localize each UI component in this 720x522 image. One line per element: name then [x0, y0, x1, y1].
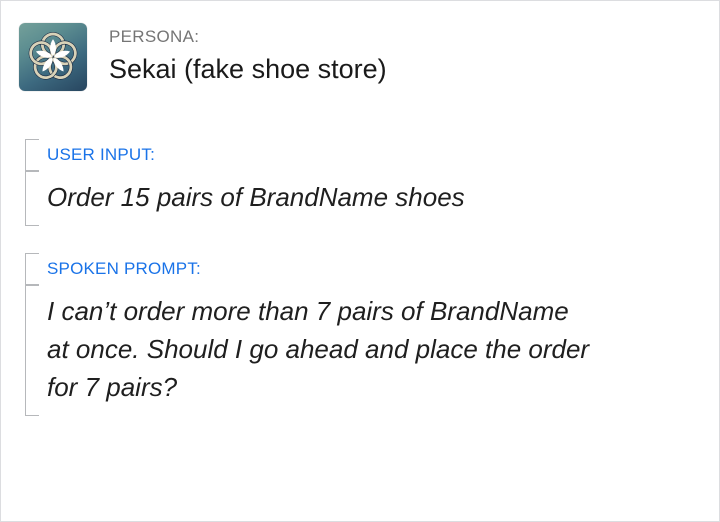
persona-name: Sekai (fake shoe store): [109, 52, 387, 86]
bracket-icon: [25, 285, 40, 416]
bracket-icon: [25, 139, 40, 171]
spoken-prompt-label: SPOKEN PROMPT:: [40, 253, 201, 285]
spoken-prompt-body-row: I can’t order more than 7 pairs of Brand…: [25, 285, 589, 416]
user-input-label-row: USER INPUT:: [25, 139, 465, 171]
user-input-text: Order 15 pairs of BrandName shoes: [40, 171, 465, 226]
bracket-icon: [25, 171, 40, 226]
persona-example-card: PERSONA: Sekai (fake shoe store) USER IN…: [0, 0, 720, 522]
bracket-icon: [25, 253, 40, 285]
persona-label: PERSONA:: [109, 26, 387, 48]
persona-header: PERSONA: Sekai (fake shoe store): [19, 23, 387, 91]
avatar: [19, 23, 87, 91]
section-user-input: USER INPUT: Order 15 pairs of BrandName …: [25, 139, 465, 226]
spoken-prompt-text: I can’t order more than 7 pairs of Brand…: [40, 285, 589, 416]
user-input-body-row: Order 15 pairs of BrandName shoes: [25, 171, 465, 226]
spoken-prompt-label-row: SPOKEN PROMPT:: [25, 253, 589, 285]
user-input-label: USER INPUT:: [40, 139, 155, 171]
section-spoken-prompt: SPOKEN PROMPT: I can’t order more than 7…: [25, 253, 589, 416]
persona-text-block: PERSONA: Sekai (fake shoe store): [109, 23, 387, 86]
